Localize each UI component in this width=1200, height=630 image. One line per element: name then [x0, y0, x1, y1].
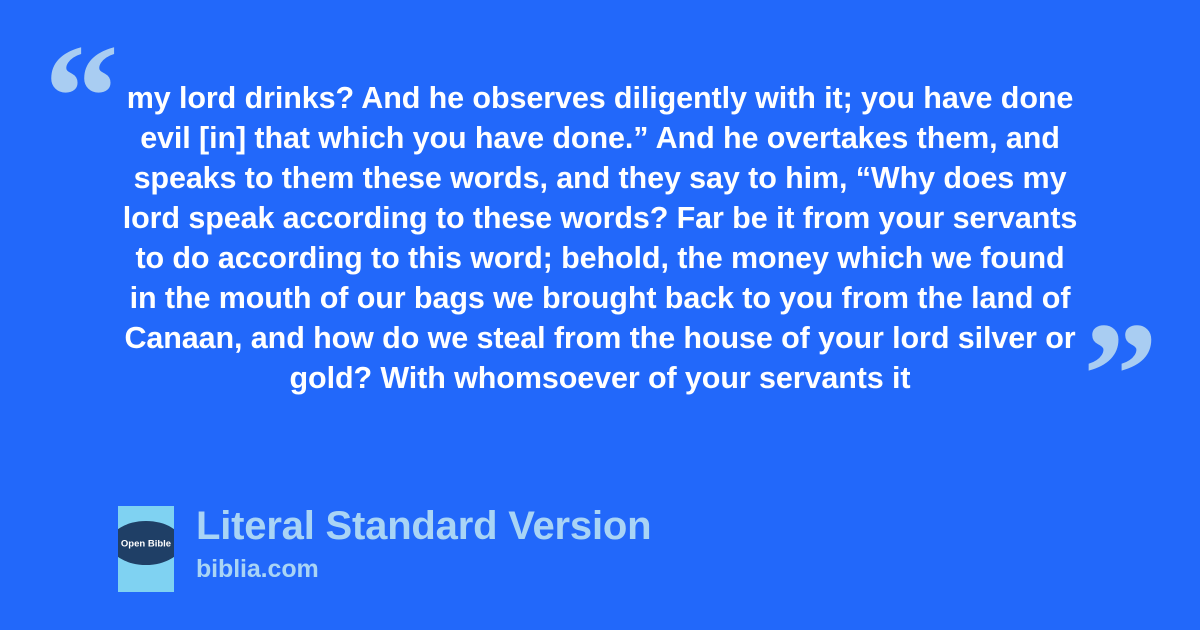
branding-footer: Open Bible Literal Standard Version bibl…: [118, 503, 651, 592]
verse-text-block: my lord drinks? And he observes diligent…: [112, 78, 1088, 398]
verse-line: evil [in] that which you have done.” And…: [112, 118, 1088, 158]
verse-line: lord speak according to these words? Far…: [112, 198, 1088, 238]
site-url[interactable]: biblia.com: [196, 554, 651, 584]
book-label-text: Open Bible: [121, 539, 171, 550]
open-bible-book-icon: Open Bible: [118, 506, 174, 592]
verse-line: gold? With whomsoever of your servants i…: [112, 358, 1088, 398]
brand-text-group: Literal Standard Version biblia.com: [196, 503, 651, 584]
verse-line: speaks to them these words, and they say…: [112, 158, 1088, 198]
verse-line: to do according to this word; behold, th…: [112, 238, 1088, 278]
verse-line: in the mouth of our bags we brought back…: [112, 278, 1088, 318]
verse-line: Canaan, and how do we steal from the hou…: [112, 318, 1088, 358]
opening-quote-icon: “: [44, 22, 119, 172]
bible-version-title: Literal Standard Version: [196, 503, 651, 549]
verse-line: my lord drinks? And he observes diligent…: [112, 78, 1088, 118]
verse-share-card: “ my lord drinks? And he observes dilige…: [0, 0, 1200, 630]
closing-quote-icon: ”: [1083, 300, 1158, 450]
